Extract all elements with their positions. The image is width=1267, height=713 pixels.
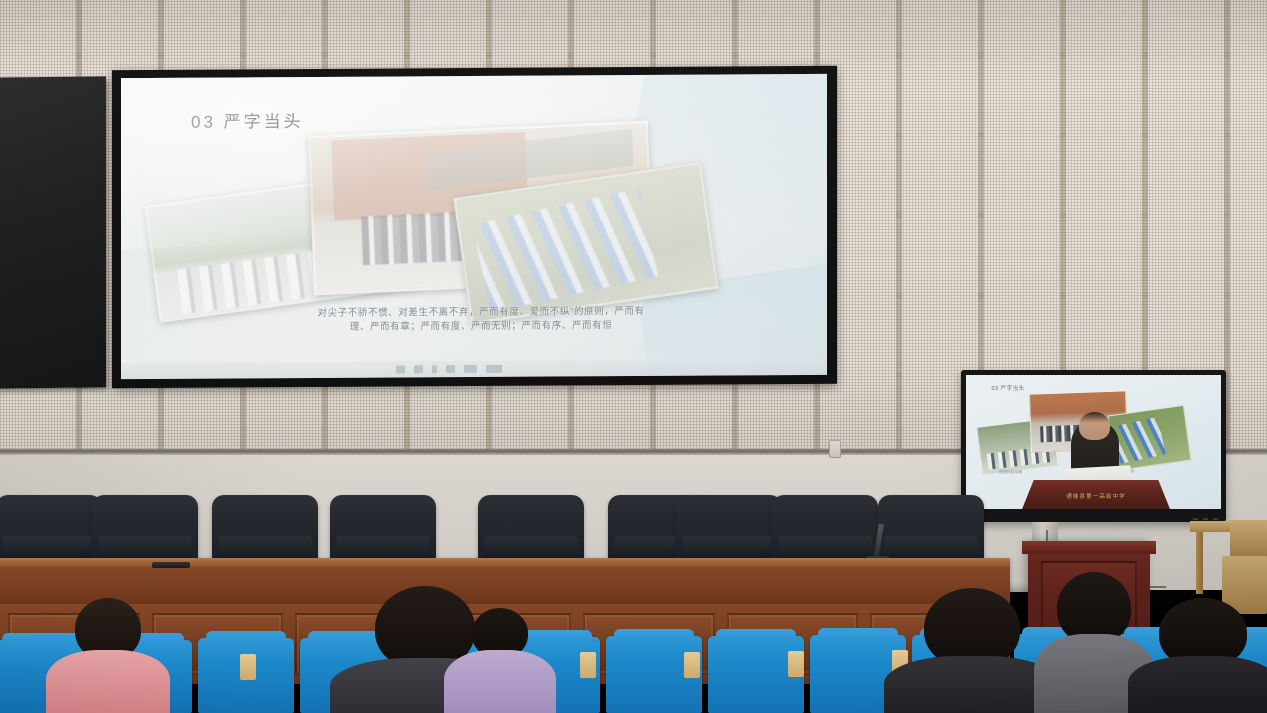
presentation-remote[interactable]: [152, 562, 190, 568]
taskbar-icon-4[interactable]: [446, 365, 455, 373]
attendee-pink-jacket: [46, 598, 170, 713]
wall-socket-center: [829, 440, 841, 458]
monitor-photo-right: [1108, 405, 1192, 471]
taskbar-icon-5[interactable]: [464, 365, 477, 373]
stage-chair: [478, 495, 584, 565]
taskbar-icon-2[interactable]: [414, 365, 423, 373]
seat-writing-tablet: [684, 652, 700, 678]
stage-chair: [878, 495, 984, 565]
projection-screen-frame: 03 严字当头 对尖子不骄不惯、对差生不离不弃，严而有度、爱而不纵"的原则，严而…: [112, 66, 837, 388]
seat-writing-tablet: [788, 651, 804, 677]
left-black-panel: [0, 76, 106, 388]
desktop-taskbar[interactable]: [121, 359, 827, 379]
stage-chair: [772, 495, 878, 565]
stage-chair: [676, 495, 782, 565]
monitor-screen: 03 严字当头 校园列队训练 操场集合 通榆县第一高级中学: [966, 375, 1221, 509]
attendee-black-far-right: [1128, 598, 1267, 713]
taskbar-icon-3[interactable]: [432, 365, 437, 373]
attendee-lavender-shirt: [444, 608, 556, 713]
seat-writing-tablet: [580, 652, 596, 678]
projected-slide: 03 严字当头 对尖子不骄不惯、对差生不离不弃，严而有度、爱而不纵"的原则，严而…: [121, 74, 827, 379]
stage-chair: [212, 495, 318, 565]
slide-body-text: 对尖子不骄不惯、对差生不离不弃，严而有度、爱而不纵"的原则，严而有 理、严而有章…: [206, 304, 757, 337]
speaker-head: [1079, 412, 1110, 440]
stage-chair: [0, 495, 102, 565]
monitor-slide-title: 03 严字当头: [992, 384, 1025, 392]
seat-writing-tablet: [240, 654, 256, 680]
stage-chair: [330, 495, 436, 565]
taskbar-icon-6[interactable]: [486, 365, 502, 373]
slide-title: 03 严字当头: [191, 107, 304, 133]
taskbar-icon-1[interactable]: [396, 365, 405, 373]
stage-chair: [92, 495, 198, 565]
monitor-caption-left: 校园列队训练: [999, 470, 1022, 475]
auditorium-scene: 03 严字当头 对尖子不骄不惯、对差生不离不弃，严而有度、爱而不纵"的原则，严而…: [0, 0, 1267, 713]
